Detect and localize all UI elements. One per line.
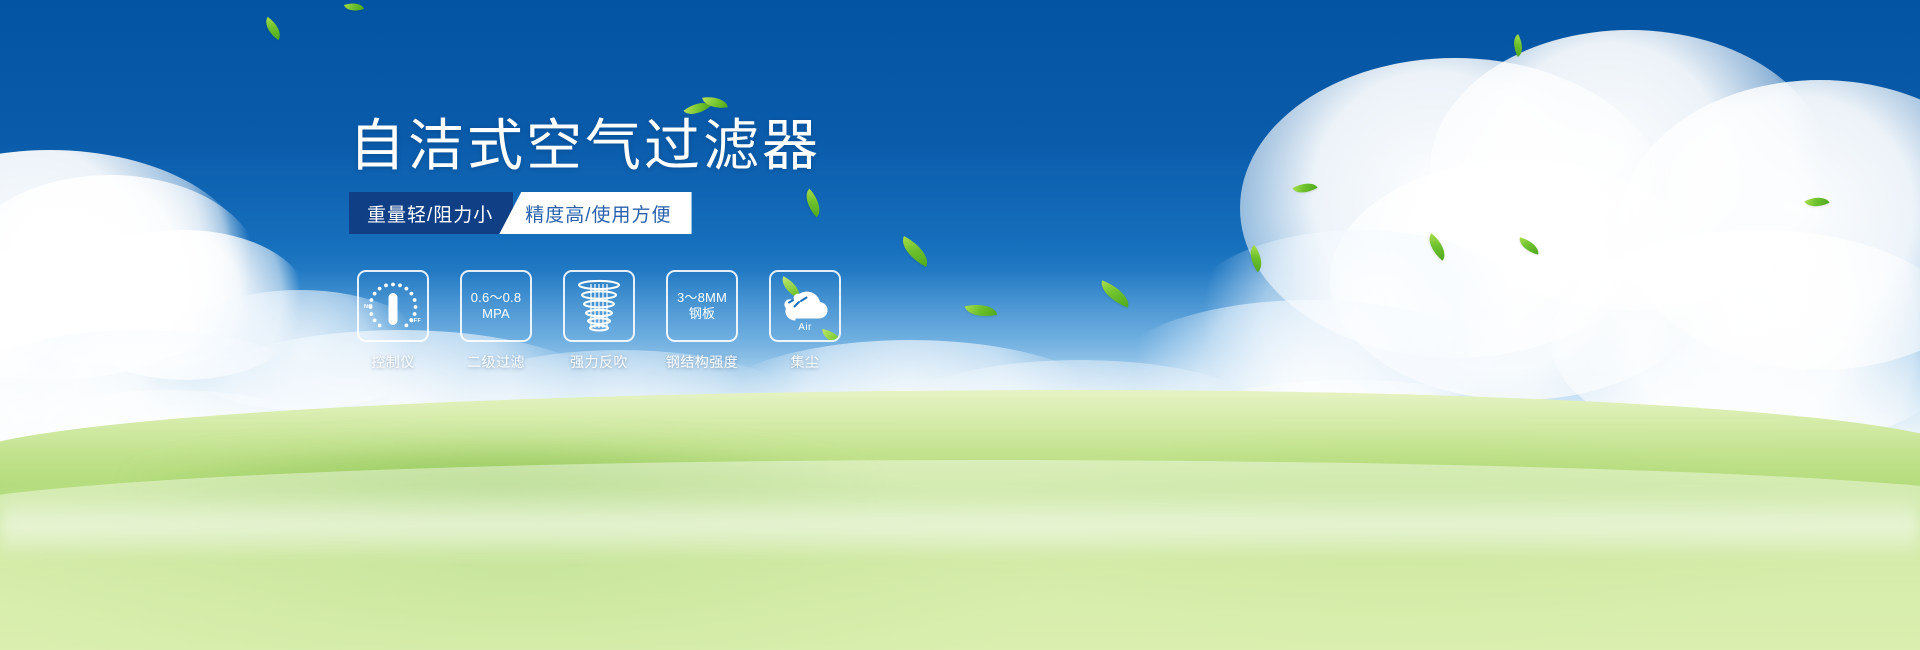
steel-thickness: 3～8MM bbox=[677, 290, 727, 306]
steel-plate-icon: 3～8MM 钢板 bbox=[677, 290, 727, 322]
feature-item-secondary-filtration[interactable]: 0.6～0.8 MPA 二级过滤 bbox=[460, 270, 532, 372]
control-dial-icon: NO OFF bbox=[364, 277, 422, 335]
feature-icon-box bbox=[563, 270, 635, 342]
feature-icon-box: NO OFF bbox=[357, 270, 429, 342]
pressure-range: 0.6～0.8 bbox=[471, 290, 522, 306]
tab-label: 重量轻/阻力小 bbox=[367, 200, 493, 227]
feature-item-steel-strength[interactable]: 3～8MM 钢板 钢结构强度 bbox=[666, 270, 738, 372]
pressure-unit: MPA bbox=[471, 306, 522, 322]
dial-on-label: NO bbox=[364, 304, 373, 310]
tab-label: 精度高/使用方便 bbox=[525, 200, 671, 227]
feature-list: NO OFF 控制仪 0.6～0.8 MPA 二级过滤 bbox=[357, 270, 841, 372]
air-cloud-icon: Air bbox=[777, 280, 833, 332]
feature-item-backblow[interactable]: 强力反吹 bbox=[563, 270, 635, 372]
filter-coil-icon bbox=[575, 278, 623, 334]
feature-caption: 集尘 bbox=[791, 352, 820, 372]
feature-caption: 二级过滤 bbox=[467, 352, 525, 372]
cloud-leaf-accent-icon bbox=[820, 329, 841, 342]
feature-caption: 控制仪 bbox=[371, 352, 415, 372]
feature-item-dust-collection[interactable]: Air 集尘 bbox=[769, 270, 841, 372]
steel-material: 钢板 bbox=[677, 306, 727, 322]
feature-tabs: 重量轻/阻力小 精度高/使用方便 bbox=[349, 192, 692, 234]
banner-content: 自洁式空气过滤器 重量轻/阻力小 精度高/使用方便 bbox=[0, 0, 1920, 650]
feature-icon-box: 3～8MM 钢板 bbox=[666, 270, 738, 342]
feature-icon-box: Air bbox=[769, 270, 841, 342]
title-leaf-icon bbox=[683, 92, 729, 126]
page-title: 自洁式空气过滤器 bbox=[349, 116, 821, 176]
pressure-value-icon: 0.6～0.8 MPA bbox=[471, 290, 522, 322]
tab-weight-resistance[interactable]: 重量轻/阻力小 bbox=[349, 192, 513, 234]
feature-icon-box: 0.6～0.8 MPA bbox=[460, 270, 532, 342]
dial-off-label: OFF bbox=[409, 318, 421, 324]
feature-item-controller[interactable]: NO OFF 控制仪 bbox=[357, 270, 429, 372]
tab-precision-convenience[interactable]: 精度高/使用方便 bbox=[499, 192, 691, 234]
feature-caption: 强力反吹 bbox=[570, 352, 628, 372]
feature-caption: 钢结构强度 bbox=[666, 352, 739, 372]
hero-banner: 自洁式空气过滤器 重量轻/阻力小 精度高/使用方便 bbox=[0, 0, 1920, 650]
